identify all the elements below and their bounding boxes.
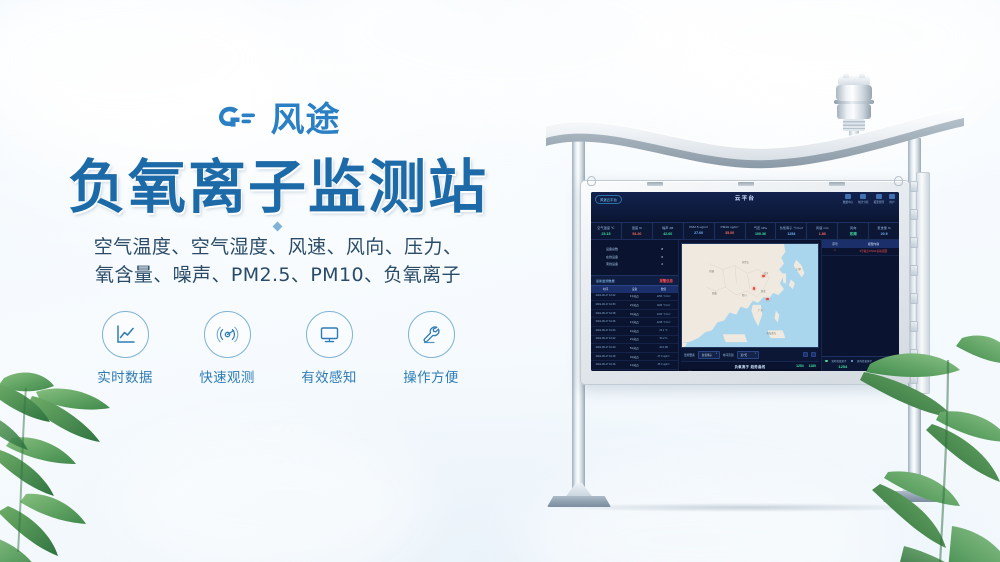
metric-card: PM10 ug/m³35.00 [715,223,746,239]
toolbar-label: 报警管理 [874,200,884,204]
dashboard-screen[interactable]: 风途云平台 云平台 数据中心统计分析报警管理用户 空气温度 ℃23.15湿度 %… [591,192,899,371]
mount-clip [829,182,845,186]
alarm-icon [876,194,882,199]
map-label: 西藏 [712,291,717,295]
legend-dot-realtime [825,360,828,363]
center-panel: 新疆 内蒙古 北京 西藏 四川 湖北 广东 日本 南海诸岛 [679,240,821,371]
user-icon [889,194,895,199]
toolbar-label: 统计分析 [858,200,868,204]
table-column-header: 时间 [591,286,620,293]
stat-value: 8 [661,247,663,251]
table-title: 最新监测数据 [596,278,615,283]
metric-value: 东南 [838,232,868,237]
marketing-copy-panel: 风途 负氧离子监测站 空气温度、空气湿度、风速、风向、压力、 氧含量、噪声、PM… [0,96,556,386]
table-cell: 1号站点 [620,318,649,326]
chart-readout-current: 1254 [796,364,804,368]
table-cell: 1号站点 [620,361,649,369]
map-label: 新疆 [709,269,714,273]
map-zoom-out-button[interactable] [811,352,816,357]
table-column-header: 数值 [649,286,678,293]
stat-row: 离线设备2 [597,262,672,266]
map-label: 内蒙古 [742,260,749,264]
alarm-list[interactable]: 13号站点 PM10 超标报警 [822,248,899,257]
wrench-icon [419,322,444,347]
metric-name: 气压 kPa [746,225,776,230]
rail-tab [910,181,918,192]
hanger-ring-right [894,176,903,186]
metric-value: 1254 [776,232,806,236]
table-row[interactable]: 2021-06-17 10:146号站点100.36 kPa [591,370,678,371]
toolbar-label: 用户 [889,200,895,204]
table-cell: 2021-06-17 10:26 [591,318,620,326]
table-cell: 100.36 kPa [649,370,678,371]
footer-values: 1254 1180 [825,364,896,369]
toolbar-item[interactable]: 统计分析 [858,194,868,204]
feature-item-fast-observation[interactable]: 快速观测 [195,311,259,386]
table-cell: 2021-06-17 10:14 [591,370,620,371]
table-cell: 2021-06-17 10:16 [591,361,620,369]
rail-tab [910,293,918,304]
chart-icon [860,194,866,199]
table-row[interactable]: 2021-06-17 10:261号站点1248 个/cm³ [591,318,678,327]
title-divider-diamond [278,226,279,227]
plate [547,496,611,507]
left-panel: 设备总数8在线设备6离线设备2 最新监测数据 报警信息 时间设备数值 2021-… [591,240,679,371]
stat-label: 在线设备 [606,255,618,259]
map-label: 日本 [796,267,801,271]
subtitle-line-1: 空气温度、空气湿度、风速、风向、压力、 [0,233,556,261]
brand-name: 风途 [271,103,341,137]
table-row[interactable]: 2021-06-17 10:244号站点23.1 ℃ [591,327,678,336]
map-label: 南海诸岛 [766,331,776,335]
alarm-table-header: 序号 报警内容 [822,240,899,248]
metric-value: 27.00 [684,231,714,235]
sensor-upper-body [836,85,872,101]
toolbar-item[interactable]: 用户 [889,194,895,204]
stat-value: 6 [661,255,663,259]
map-pin[interactable] [753,287,756,290]
metric-name: 风向 [838,225,868,230]
trend-line-chart: 0400800120016002000240006-0106-0206-0306… [683,370,817,371]
rail-tab [910,321,918,332]
table-row[interactable]: 2021-06-17 10:321号站点1254 个/cm³ [591,293,678,302]
table-cell: 1254 个/cm³ [649,293,678,301]
brand-logo: 风途 [0,96,556,144]
metric-value: 35.00 [715,231,745,235]
chart-readouts: 1254 1180 [796,364,816,368]
metric-value: 54.20 [622,232,652,236]
stat-row: 在线设备6 [597,255,672,259]
base-plate-left [547,485,611,507]
china-map[interactable]: 新疆 内蒙古 北京 西藏 四川 湖北 广东 日本 南海诸岛 [681,243,819,348]
metric-strip: 空气温度 ℃23.15湿度 %54.20噪声 dB42.60PM2.5 ug/m… [591,223,899,240]
rail-tab [910,209,918,220]
metric-value: 1.80 [807,232,837,236]
grid-icon [845,194,851,199]
mount-clip [647,182,663,186]
map-label: 广东 [758,308,763,312]
map-zoom-in-button[interactable] [803,352,808,357]
stat-row: 设备总数8 [597,247,672,251]
dashboard-toolbar: 数据中心统计分析报警管理用户 [843,194,895,204]
table-cell: 42.6 dB [649,344,678,352]
wave-canopy [540,106,970,178]
feature-icon-ring [306,311,353,358]
table-row[interactable]: 2021-06-17 10:183号站点27.0 ug/m³ [591,353,678,362]
radar-signal-icon [215,322,240,347]
metric-card: 氧含量 %20.9 [869,223,899,239]
background-blob [120,430,420,562]
metric-card: 湿度 %54.20 [622,223,653,239]
map-filter-label-1: 监测要素 [684,353,695,357]
metric-name: 氧含量 % [869,225,899,230]
table-cell: 35.0 ug/m³ [649,361,678,369]
table-cell: 1号站点 [620,293,649,301]
metric-name: 风速 m/s [807,225,837,230]
display-enclosure: 风途云平台 云平台 数据中心统计分析报警管理用户 空气温度 ℃23.15湿度 %… [580,180,910,385]
table-cell: 3号站点 [620,353,649,361]
table-cell: 2021-06-17 10:32 [591,293,620,301]
legend-label-realtime: 实时负氧离子 [832,359,847,363]
metric-card: 空气温度 ℃23.15 [591,223,622,239]
table-cell: 54.2 % [649,336,678,344]
metric-name: 湿度 % [622,225,652,230]
table-row[interactable]: 2021-06-17 10:205号站点42.6 dB [591,344,678,353]
rail-tab [910,265,918,276]
table-column-headers: 时间设备数值 [591,285,678,293]
map-pin[interactable] [766,298,769,301]
table-cell: 2号站点 [620,301,649,309]
alarm-indicator: 报警信息 [659,278,673,283]
wind-cloud-logo-icon [216,103,262,137]
alarm-cell: 3号站点 PM10 超标报警 [848,248,899,256]
table-cell: 4号站点 [620,327,649,335]
map-controls: 监测要素 负氧离子 时间范围 近7天 [681,348,819,361]
toolbar-item[interactable]: 报警管理 [874,194,884,204]
footer-value-daily: 1180 [874,364,883,369]
sensor-list-subtitle: 空气温度、空气湿度、风速、风向、压力、 氧含量、噪声、PM2.5、PM10、负氧… [0,233,556,289]
table-cell: 23.1 ℃ [649,327,678,335]
metric-name: 空气温度 ℃ [591,225,621,230]
monitor-icon [317,322,342,347]
toolbar-item[interactable]: 数据中心 [843,194,853,204]
right-panel: 序号 报警内容 13号站点 PM10 超标报警 实时负氧离子 日均负氧离子 [821,240,899,371]
dashboard-header: 风途云平台 云平台 数据中心统计分析报警管理用户 [591,192,899,223]
metric-card: 气压 kPa100.36 [746,223,777,239]
map-label: 四川 [742,293,747,297]
table-cell: 1320 个/cm³ [649,310,678,318]
data-table[interactable]: 2021-06-17 10:321号站点1254 个/cm³2021-06-17… [591,293,678,371]
metric-card: 风向东南 [838,223,869,239]
metric-name: PM2.5 ug/m³ [684,225,714,229]
right-panel-filler [822,256,899,356]
metric-value: 20.9 [869,232,899,236]
side-rail [916,172,930,394]
toolbar-label: 数据中心 [843,200,853,204]
feature-icon-ring [408,311,455,358]
rail-tab [910,373,918,384]
metric-card: 风速 m/s1.80 [807,223,838,239]
table-cell: 5号站点 [620,344,649,352]
metric-name: 噪声 dB [653,225,683,230]
hanger-ring-left [587,176,596,186]
trend-chart-panel: 负氧离子 趋势曲线 1254 1180 04008001200160020002… [681,361,819,369]
table-cell: 2021-06-17 10:20 [591,344,620,352]
alarm-row[interactable]: 13号站点 PM10 超标报警 [822,248,899,257]
mount-clip [738,182,754,186]
table-row[interactable]: 2021-06-17 10:283号站点1320 个/cm³ [591,310,678,319]
map-svg [682,244,818,347]
feature-list: 实时数据 快速观测 [0,311,556,386]
rail-tab [910,349,918,360]
metric-value: 23.15 [591,232,621,236]
feature-item-realtime-data[interactable]: 实时数据 [93,311,157,386]
feature-icon-ring [204,311,251,358]
metric-value: 42.60 [653,232,683,236]
table-row[interactable]: 2021-06-17 10:302号站点1186 个/cm³ [591,301,678,310]
metric-card: PM2.5 ug/m³27.00 [684,223,715,239]
stat-label: 设备总数 [606,247,618,251]
table-cell: 2021-06-17 10:24 [591,327,620,335]
feature-item-easy-operation[interactable]: 操作方便 [399,311,463,386]
subtitle-line-2: 氧含量、噪声、PM2.5、PM10、负氧离子 [0,261,556,289]
feature-item-effective-sensing[interactable]: 有效感知 [297,311,361,386]
line-chart-icon [113,322,138,347]
monitoring-station-product: 风途云平台 云平台 数据中心统计分析报警管理用户 空气温度 ℃23.15湿度 %… [520,60,990,530]
base-plate-right [883,480,947,502]
table-header-bar: 最新监测数据 报警信息 [591,275,678,285]
alarm-col-index: 序号 [822,240,848,248]
table-cell: 2号站点 [620,336,649,344]
stat-label: 离线设备 [606,262,618,266]
sensor-cap [838,76,870,85]
metric-name: 负氧离子 个/cm³ [776,225,806,230]
table-cell: 2021-06-17 10:30 [591,301,620,309]
feature-icon-ring [102,311,149,358]
right-panel-footer: 实时负氧离子 日均负氧离子 1254 1180 [822,356,899,371]
map-filter-label-2: 时间范围 [723,353,734,357]
table-row[interactable]: 2021-06-17 10:161号站点35.0 ug/m³ [591,361,678,370]
metric-value: 100.36 [746,232,776,236]
chart-readout-average: 1180 [809,364,816,368]
map-label: 湖北 [761,289,766,293]
poster-stage: 风途 负氧离子监测站 空气温度、空气湿度、风速、风向、压力、 氧含量、噪声、PM… [0,0,1000,562]
table-row[interactable]: 2021-06-17 10:222号站点54.2 % [591,336,678,345]
page-title: 负氧离子监测站 [0,158,556,217]
feature-label: 操作方便 [399,366,463,386]
alarm-cell: 1 [822,248,848,256]
metric-card: 负氧离子 个/cm³1254 [776,223,807,239]
table-column-header: 设备 [620,286,649,293]
table-cell: 2021-06-17 10:18 [591,353,620,361]
table-cell: 2021-06-17 10:22 [591,336,620,344]
table-cell: 2021-06-17 10:28 [591,310,620,318]
map-filter-select-2[interactable]: 近7天 [737,351,759,359]
table-cell: 1248 个/cm³ [649,318,678,326]
metric-card: 噪声 dB42.60 [653,223,684,239]
table-cell: 1186 个/cm³ [649,301,678,309]
legend-dot-daily [851,360,854,363]
map-filter-select-1[interactable]: 负氧离子 [698,351,720,359]
feature-label: 有效感知 [297,366,361,386]
stat-value: 2 [661,262,663,266]
legend: 实时负氧离子 日均负氧离子 [825,359,896,363]
plate [883,491,947,502]
feature-label: 快速观测 [195,366,259,386]
metric-name: PM10 ug/m³ [715,225,745,229]
rail-tab [910,237,918,248]
table-cell: 27.0 ug/m³ [649,353,678,361]
dashboard-body: 设备总数8在线设备6离线设备2 最新监测数据 报警信息 时间设备数值 2021-… [591,240,899,371]
legend-label-daily: 日均负氧离子 [857,359,872,363]
alarm-col-content: 报警内容 [848,240,899,248]
footer-value-realtime: 1254 [838,364,847,369]
table-cell: 6号站点 [620,370,649,371]
feature-label: 实时数据 [93,366,157,386]
device-stats: 设备总数8在线设备6离线设备2 [591,240,678,275]
table-cell: 3号站点 [620,310,649,318]
